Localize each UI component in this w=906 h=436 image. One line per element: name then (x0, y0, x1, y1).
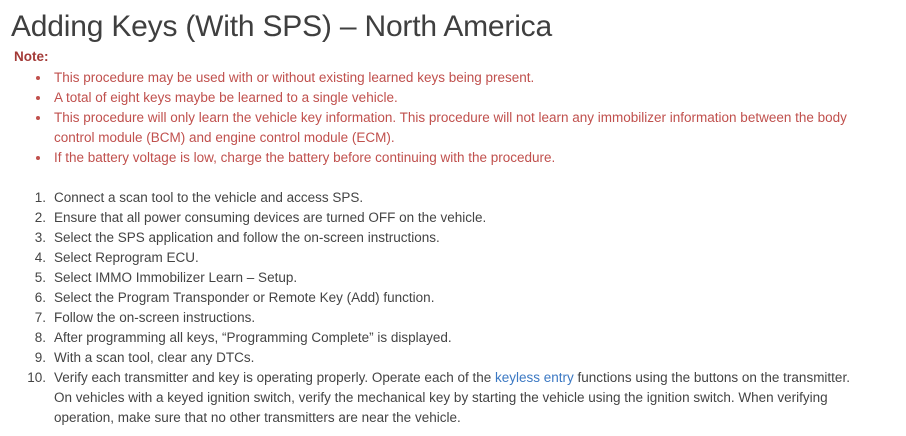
disc-bullet-icon (36, 116, 40, 120)
note-bullet-list: This procedure may be used with or witho… (0, 68, 906, 168)
step-number: 5. (0, 268, 46, 288)
step-number: 3. (0, 228, 46, 248)
step-number: 2. (0, 208, 46, 228)
step-text: Connect a scan tool to the vehicle and a… (54, 190, 363, 205)
note-list-item-text: A total of eight keys maybe be learned t… (54, 90, 398, 105)
note-list-item-text: This procedure will only learn the vehic… (54, 110, 847, 145)
procedure-step: 5. Select IMMO Immobilizer Learn – Setup… (0, 268, 906, 288)
step-text: Select IMMO Immobilizer Learn – Setup. (54, 270, 297, 285)
note-list-item: If the battery voltage is low, charge th… (0, 148, 906, 168)
step-text: Select the SPS application and follow th… (54, 230, 440, 245)
step-text: Ensure that all power consuming devices … (54, 210, 486, 225)
step-number: 9. (0, 348, 46, 368)
step-text: With a scan tool, clear any DTCs. (54, 350, 254, 365)
note-list-item-text: This procedure may be used with or witho… (54, 70, 534, 85)
procedure-step: 7. Follow the on-screen instructions. (0, 308, 906, 328)
step-number: 1. (0, 188, 46, 208)
procedure-step-list: 1. Connect a scan tool to the vehicle an… (0, 188, 906, 428)
document-page: Adding Keys (With SPS) – North America N… (0, 0, 906, 436)
note-block: Note: This procedure may be used with or… (0, 45, 906, 168)
procedure-step: 3. Select the SPS application and follow… (0, 228, 906, 248)
note-list-item: A total of eight keys maybe be learned t… (0, 88, 906, 108)
note-list-item: This procedure may be used with or witho… (0, 68, 906, 88)
procedure-step: 8. After programming all keys, “Programm… (0, 328, 906, 348)
procedure-step: 1. Connect a scan tool to the vehicle an… (0, 188, 906, 208)
disc-bullet-icon (36, 96, 40, 100)
disc-bullet-icon (36, 156, 40, 160)
procedure-step: 2. Ensure that all power consuming devic… (0, 208, 906, 228)
step-text: After programming all keys, “Programming… (54, 330, 452, 345)
step-text: Select the Program Transponder or Remote… (54, 290, 434, 305)
disc-bullet-icon (36, 76, 40, 80)
procedure-step: 10. Verify each transmitter and key is o… (0, 368, 906, 428)
step-number: 7. (0, 308, 46, 328)
step-text-before-link: Verify each transmitter and key is opera… (54, 370, 495, 385)
step-text: Select Reprogram ECU. (54, 250, 199, 265)
procedure-step: 9. With a scan tool, clear any DTCs. (0, 348, 906, 368)
note-list-item-text: If the battery voltage is low, charge th… (54, 150, 555, 165)
step-number: 10. (0, 368, 46, 388)
procedure-step: 6. Select the Program Transponder or Rem… (0, 288, 906, 308)
page-title: Adding Keys (With SPS) – North America (0, 0, 906, 45)
step-text: Follow the on-screen instructions. (54, 310, 255, 325)
keyless-entry-link[interactable]: keyless entry (495, 370, 574, 385)
note-label: Note: (0, 45, 906, 65)
note-list-item: This procedure will only learn the vehic… (0, 108, 906, 148)
step-number: 6. (0, 288, 46, 308)
procedure-step: 4. Select Reprogram ECU. (0, 248, 906, 268)
step-number: 8. (0, 328, 46, 348)
step-number: 4. (0, 248, 46, 268)
